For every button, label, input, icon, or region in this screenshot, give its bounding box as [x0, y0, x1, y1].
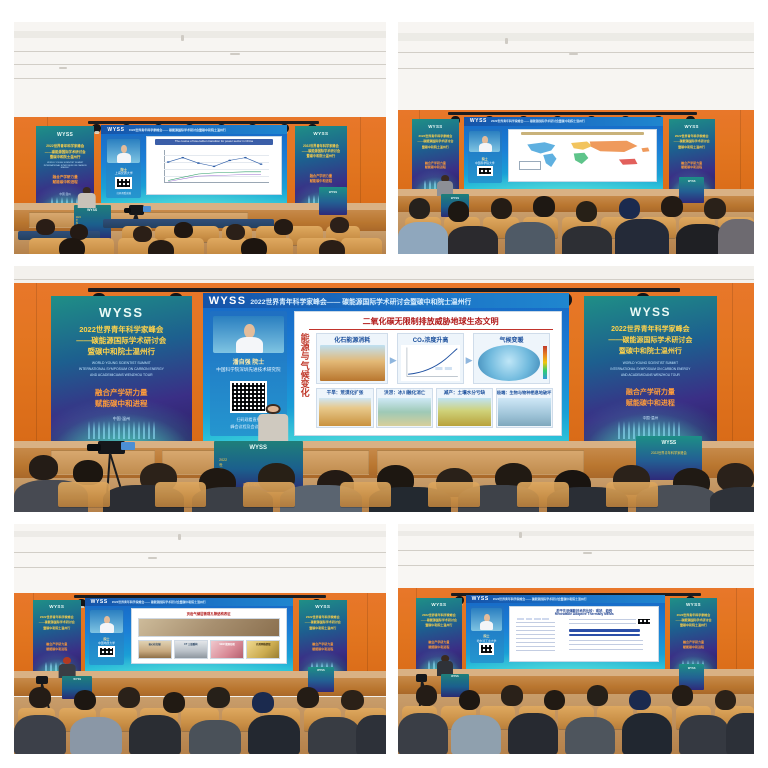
audience-shoulders	[562, 226, 612, 254]
ceiling-line	[398, 565, 754, 566]
auditorium-scene: WYSS 2022世界青年科学家峰会 ——碳能源国际学术研讨会 暨碳中和院士温州…	[398, 22, 754, 254]
banner-slogan-2: 赋能碳中和进程	[418, 645, 461, 649]
banner-slogan-2: 赋能碳中和进程	[301, 647, 346, 651]
banner-title-cn: 2022世界青年科学家峰会	[301, 615, 346, 619]
highlight-bar	[569, 629, 640, 632]
speaker-shoulders	[236, 337, 263, 353]
banner-title-cn: 2022世界青年科学家峰会	[670, 134, 713, 138]
main-led-screen: WYSS 2022世界青年科学家峰会—— 碳能源国际学术研讨会暨碳中和院士温州行…	[464, 117, 663, 189]
banner-subtitle-cn: ——碳能源国际学术研讨会	[57, 335, 186, 346]
presentation-slide: The course of low-carbon transition for …	[146, 136, 282, 194]
core-photo: 岩心柱扫描	[138, 640, 172, 659]
banner-subtitle-cn: ——碳能源国际学术研讨会	[672, 618, 715, 622]
speaker-name: 潘自强 院士	[212, 357, 286, 366]
presentation-slide: 二氧化碳无限制排放威胁地球生态文明 能源与气候变化 化石能源消耗 ▶ CO₂浓度…	[294, 311, 561, 436]
lighting-truss	[88, 288, 680, 292]
audience-head	[118, 687, 140, 708]
ceiling	[14, 22, 386, 124]
audience-head	[629, 690, 650, 711]
wall-seam	[36, 283, 37, 440]
qr-code[interactable]	[479, 643, 495, 654]
ceiling-vent	[59, 67, 67, 69]
skyline-graphic	[88, 421, 156, 439]
audience-head	[174, 222, 193, 238]
led-header-title: 2022世界青年科学家峰会—— 碳能源国际学术研讨会暨碳中和院士温州行	[250, 296, 471, 306]
block-caption: 化石能源消耗	[317, 335, 387, 344]
banner-subtitle-cn: ——碳能源国际学术研讨会	[670, 139, 713, 143]
speaker-shoulders	[100, 623, 114, 632]
pore-network: 孔隙网络提取	[246, 640, 280, 659]
banner-subtitle2-cn: 暨碳中和院士温州行	[414, 145, 457, 149]
ceiling-band	[398, 531, 754, 537]
kiosk-brand: WYSS	[636, 440, 703, 446]
slide-photo-extreme: 极端：生物与物种栖息地破坏	[496, 388, 553, 428]
panel-center: WYSS 2022世界青年科学家峰会 ——碳能源国际学术研讨会 暨碳中和院士温州…	[14, 266, 754, 512]
table-rule	[516, 626, 554, 627]
wall-seam	[732, 283, 733, 440]
strip-caption: 孔隙网络提取	[247, 642, 279, 646]
banner-subtitle2-cn: 暨碳中和院士温州行	[57, 346, 186, 357]
audience-head	[501, 685, 522, 706]
audience-head	[29, 455, 59, 480]
ceiling-vent	[230, 53, 240, 55]
panel-top-left: WYSS 2022世界青年科学家峰会 ——碳能源国际学术研讨会 暨碳中和院士温州…	[14, 22, 386, 254]
banner-title-en: WORLD YOUNG SCIENTIST SUMMIT	[592, 361, 709, 365]
slide-title: 页岩气储层微观孔隙结构表征	[138, 611, 280, 616]
qr-pattern	[638, 619, 650, 624]
led-header: WYSS 2022世界青年科学家峰会—— 碳能源国际学术研讨会暨碳中和院士温州行	[464, 117, 663, 126]
wyss-logo: WYSS	[91, 599, 108, 605]
right-banner: WYSS 2022世界青年科学家峰会 ——碳能源国际学术研讨会 暨碳中和院士温州…	[670, 598, 716, 674]
ceiling-vent	[505, 38, 508, 44]
banner-slogan-2: 赋能碳中和进程	[39, 180, 92, 185]
panel-bottom-right: WYSS 2022世界青年科学家峰会 ——碳能源国际学术研讨会 暨碳中和院士温州…	[398, 524, 754, 754]
wyss-logo: WYSS	[670, 602, 716, 607]
audience-head	[226, 224, 245, 240]
main-led-screen: WYSS 2022世界青年科学家峰会—— 碳能源国际学术研讨会暨碳中和院士温州行…	[101, 125, 287, 204]
audience-head	[252, 692, 274, 713]
speaker-shoulders	[479, 143, 492, 152]
ceiling	[398, 524, 754, 593]
core-scan-strip	[138, 618, 280, 637]
audience-head	[207, 687, 229, 708]
speaker-name: 院士	[90, 637, 124, 641]
ceiling	[14, 524, 386, 598]
table-rule	[516, 634, 554, 635]
table-rule	[516, 642, 554, 643]
temperature-scale	[543, 346, 547, 380]
led-header: WYSS 2022世界青年科学家峰会—— 碳能源国际学术研讨会暨碳中和院士温州行	[101, 125, 287, 134]
seat	[606, 482, 658, 507]
audience-head	[319, 240, 345, 254]
seat	[517, 482, 569, 507]
audience-shoulders	[398, 713, 448, 754]
speaker-photo	[213, 316, 284, 353]
audience-head	[587, 685, 608, 706]
wyss-logo: WYSS	[669, 124, 715, 129]
photo-caption: 极端：生物与物种栖息地破坏	[497, 390, 552, 396]
camera-monitor	[121, 442, 136, 450]
audience-head	[544, 690, 565, 711]
audience-head	[448, 201, 469, 222]
speaker-org: 中国科学院大学	[469, 161, 502, 165]
table-cell	[534, 618, 541, 620]
seat	[428, 482, 480, 507]
speaker-card: 院士 上海交通大学 扫码观看直播	[106, 136, 141, 198]
arrow-icon: ▶	[390, 355, 397, 366]
audience-head	[274, 219, 293, 235]
banner-title-cn: 2022世界青年科学家峰会	[35, 615, 80, 619]
ceiling-band	[14, 531, 386, 537]
audience-head	[715, 690, 736, 711]
audience-head	[73, 460, 103, 485]
arrow-icon: ▶	[466, 355, 473, 366]
wyss-logo: WYSS	[51, 305, 192, 320]
kiosk-brand: WYSS	[319, 190, 347, 194]
co2-curve-svg	[401, 345, 460, 382]
dune-photo	[319, 398, 372, 426]
qr-code[interactable]	[477, 166, 493, 176]
wyss-logo: WYSS	[412, 124, 458, 129]
ceiling-vent	[181, 35, 184, 41]
ceiling-vent	[519, 532, 522, 538]
auditorium-scene: WYSS 2022世界青年科学家峰会 ——碳能源国际学术研讨会 暨碳中和院士温州…	[14, 524, 386, 754]
wheat-field-photo	[438, 398, 491, 426]
podium-title: 2022世界青年科学家峰会	[76, 217, 78, 219]
slide-block-fossil: 化石能源消耗	[316, 333, 388, 384]
camera-lens	[124, 208, 131, 213]
bullet-rule	[569, 649, 643, 650]
strip-caption: CT 三维重构	[175, 642, 207, 646]
audience-head	[459, 690, 480, 711]
table-rule	[516, 650, 554, 651]
banner-slogan-1: 融合产学研力量	[57, 387, 186, 398]
bullet-rule	[569, 640, 643, 641]
audience-shoulders	[129, 715, 181, 754]
sem-image: SEM 微观形貌	[210, 640, 244, 659]
banner-slogan-1: 融合产学研力量	[418, 640, 461, 644]
audience-head	[672, 685, 693, 706]
podium-brand: WYSS	[441, 675, 469, 678]
ceiling-vent	[583, 552, 592, 554]
audience-head	[148, 240, 174, 254]
slide-title: 二氧化碳无限制排放威胁地球生态文明	[311, 316, 550, 327]
slide-qr-code[interactable]	[636, 617, 652, 626]
ceiling-line	[398, 68, 754, 69]
wyss-logo: WYSS	[470, 118, 487, 124]
banner-subtitle2-cn: 暨碳中和院士温州行	[35, 626, 80, 630]
audience-shoulders	[189, 720, 241, 755]
block-caption: CO₂浓度升高	[398, 335, 462, 344]
table-rule	[516, 622, 554, 623]
wyss-logo: WYSS	[33, 604, 81, 609]
qr-caption: 扫码观看直播	[106, 191, 141, 195]
audience-head	[29, 687, 51, 708]
audience-shoulders	[718, 219, 754, 254]
slide-title-en: Renewable Adaptive Thermally MEMs	[516, 612, 652, 616]
audience-head	[133, 226, 152, 242]
speaker-photo	[107, 139, 140, 164]
banner-subtitle2-cn: 暨碳中和院士温州行	[39, 154, 92, 159]
right-banner: WYSS 2022世界青年科学家峰会 ——碳能源国际学术研讨会 暨碳中和院士温州…	[299, 600, 347, 676]
wetland-photo	[378, 398, 431, 426]
speaker-org: 上海交通大学	[107, 171, 141, 175]
table-rule	[516, 638, 554, 639]
map-slide-title	[521, 132, 645, 136]
table-cell	[517, 618, 524, 620]
audience-head	[533, 196, 554, 217]
banner-subtitle2-cn: 暨碳中和院士温州行	[301, 626, 346, 630]
ceiling-line	[14, 51, 386, 52]
ceiling-line	[14, 279, 754, 280]
panel-bottom-left: WYSS 2022世界青年科学家峰会 ——碳能源国际学术研讨会 暨碳中和院士温州…	[14, 524, 386, 754]
data-table	[516, 617, 554, 657]
banner-title-cn: 2022世界青年科学家峰会	[414, 134, 457, 138]
wyss-logo: WYSS	[36, 132, 94, 138]
presenter-body	[77, 193, 96, 208]
audience-head	[241, 238, 267, 254]
chart-x-axis	[164, 182, 268, 183]
presenter	[258, 404, 288, 443]
speaker-photo	[471, 608, 502, 631]
banner-title-en3: AND ACADEMICIANS WENZHOU TOUR	[592, 373, 709, 377]
audience-head	[416, 685, 437, 706]
photo-caption: 减产：土壤水分亏缺	[437, 390, 492, 396]
kiosk-brand: WYSS	[308, 669, 334, 672]
audience-head	[491, 198, 512, 219]
audience-shoulders	[710, 487, 754, 512]
banner-subtitle2-cn: 暨碳中和院士温州行	[670, 145, 713, 149]
speaker-name: 院士	[470, 634, 503, 638]
banner-subtitle-cn: ——碳能源国际学术研讨会	[589, 335, 712, 345]
led-header-title: 2022世界青年科学家峰会—— 碳能源国际学术研讨会暨碳中和院士温州行	[112, 600, 206, 604]
audience-shoulders	[14, 715, 66, 754]
audience-shoulders	[622, 713, 672, 754]
photo-collage: WYSS 2022世界青年科学家峰会 ——碳能源国际学术研讨会 暨碳中和院士温州…	[0, 0, 768, 768]
qr-pattern	[100, 648, 112, 655]
banner-slogan-2: 赋能碳中和进程	[672, 645, 715, 649]
stage-kiosk: WYSS	[679, 177, 704, 203]
banner-slogan-1: 融合产学研力量	[301, 642, 346, 646]
slide-vertical-label: 能源与气候变化	[299, 334, 311, 398]
presentation-slide: 页岩气储层微观孔隙结构表征 岩心柱扫描 CT 三维重构 SEM 微观形貌 孔隙网…	[131, 608, 287, 664]
camera-lens	[87, 444, 100, 452]
led-header-title: 2022世界青年科学家峰会—— 碳能源国际学术研讨会暨碳中和院士温州行	[129, 128, 227, 132]
audience-shoulders	[451, 715, 501, 754]
speaker-card: 院士 中国地质大学	[89, 608, 124, 665]
qr-code[interactable]	[98, 646, 114, 657]
presenter	[59, 657, 76, 678]
podium-brand: WYSS	[74, 208, 111, 212]
banner-slogan-2: 赋能碳中和进程	[670, 165, 713, 169]
right-banner: WYSS 2022世界青年科学家峰会 ——碳能源国际学术研讨会 暨碳中和院士温州…	[584, 296, 717, 449]
ceiling-vent	[178, 534, 181, 540]
banner-subtitle2-cn: 暨碳中和院士温州行	[418, 623, 461, 627]
qr-pattern	[479, 168, 491, 174]
stage-kiosk: WYSS	[319, 187, 347, 215]
audience-shoulders	[308, 717, 360, 754]
qr-code[interactable]	[115, 177, 132, 189]
banner-slogan-2: 赋能碳中和进程	[414, 165, 457, 169]
wyss-logo: WYSS	[209, 295, 247, 307]
speaker-org: 中国地质大学	[90, 641, 124, 645]
banner-title-en2: INTERNATIONAL SYMPOSIUM ON CARBON ENERGY	[40, 165, 91, 169]
oilfield-photo	[320, 345, 385, 382]
ceiling-vent	[569, 53, 578, 55]
audience-head	[74, 690, 96, 711]
wyss-logo: WYSS	[299, 604, 347, 609]
ceiling-line	[398, 550, 754, 551]
audience-head	[661, 196, 682, 217]
banner-slogan-2: 赋能碳中和进程	[57, 398, 186, 409]
seat	[243, 482, 295, 507]
speaker-shoulders	[480, 621, 493, 630]
audience-shoulders	[248, 715, 300, 754]
presenter	[77, 187, 96, 208]
audience-shoulders	[726, 713, 754, 754]
auditorium-scene: WYSS 2022世界青年科学家峰会 ——碳能源国际学术研讨会 暨碳中和院士温州…	[398, 524, 754, 754]
left-banner: WYSS 2022世界青年科学家峰会 ——碳能源国际学术研讨会 暨碳中和院士温州…	[51, 296, 192, 449]
wyss-logo: WYSS	[472, 596, 489, 602]
presentation-slide: 若干先进储能技术的比较：现状、趋势 Renewable Adaptive The…	[509, 606, 659, 662]
audience-head	[341, 690, 363, 711]
strip-caption: 岩心柱扫描	[139, 642, 171, 646]
main-led-screen: WYSS 2022世界青年科学家峰会—— 碳能源国际学术研讨会暨碳中和院士温州行…	[85, 598, 293, 672]
led-header: WYSS 2022世界青年科学家峰会—— 碳能源国际学术研讨会暨碳中和院士温州行	[466, 595, 665, 603]
strip-caption: SEM 微观形貌	[211, 642, 243, 646]
speaker-shoulders	[117, 153, 131, 163]
led-header-title: 2022世界青年科学家峰会—— 碳能源国际学术研讨会暨碳中和院士温州行	[493, 597, 587, 601]
podium-brand: WYSS	[62, 678, 92, 681]
presenter-face	[268, 406, 279, 412]
podium-brand: WYSS	[441, 196, 469, 200]
audience-shoulders	[505, 222, 555, 254]
chart-title: The course of low-carbon transition for …	[155, 139, 273, 145]
presenter-body	[258, 414, 288, 445]
ceiling-line	[14, 78, 386, 79]
bullet-rule	[569, 644, 643, 645]
chart-series-upper	[164, 150, 268, 183]
banner-title-cn: 2022世界青年科学家峰会	[589, 324, 712, 334]
audience-shoulders	[508, 713, 558, 754]
audience-head	[163, 692, 185, 713]
audience-head	[297, 687, 319, 708]
audience-head	[409, 198, 430, 219]
banner-slogan-2: 赋能碳中和进程	[297, 178, 345, 183]
banner-subtitle-cn: ——碳能源国际学术研讨会	[418, 618, 461, 622]
speaker-org: 哈尔滨工业大学	[470, 639, 503, 643]
presentation-slide	[508, 129, 658, 182]
audience-shoulders	[448, 226, 498, 254]
globe-temperature-map	[478, 345, 540, 381]
audience-head	[59, 238, 85, 254]
ceiling-vent	[148, 557, 157, 559]
audience-shoulders	[70, 717, 122, 754]
kiosk-brand: WYSS	[679, 180, 704, 183]
auditorium-scene: WYSS 2022世界青年科学家峰会 ——碳能源国际学术研讨会 暨碳中和院士温州…	[14, 22, 386, 254]
panel-top-right: WYSS 2022世界青年科学家峰会 ——碳能源国际学术研讨会 暨碳中和院士温州…	[398, 22, 754, 254]
banner-subtitle2-cn: 暨碳中和院士温州行	[297, 153, 345, 158]
audience-head	[619, 198, 640, 219]
audience-head	[36, 219, 55, 235]
main-led-screen: WYSS 2022世界青年科学家峰会—— 碳能源国际学术研讨会暨碳中和院士温州行…	[466, 595, 665, 669]
co2-curve-chart	[401, 345, 460, 382]
ceiling-band	[14, 31, 386, 38]
banner-slogan-2: 赋能碳中和进程	[35, 647, 80, 651]
qr-pattern	[117, 179, 130, 187]
speaker-photo	[90, 610, 123, 633]
ceiling	[398, 22, 754, 115]
banner-title-en3: AND ACADEMICIANS WENZHOU TOUR	[59, 373, 183, 377]
banner-title-en2: INTERNATIONAL SYMPOSIUM ON CARBON ENERGY	[59, 367, 183, 371]
banner-subtitle2-cn: 暨碳中和院士温州行	[589, 346, 712, 356]
birds-photo	[498, 398, 551, 426]
speaker-org: 中国科学院深圳先进技术研究院	[212, 367, 286, 373]
speaker-photo	[469, 131, 500, 153]
table-rule	[516, 646, 554, 647]
podium-brand: WYSS	[214, 445, 303, 451]
banner-slogan-2: 赋能碳中和进程	[589, 398, 712, 408]
audience-shoulders	[356, 715, 386, 754]
wyss-logo: WYSS	[295, 131, 347, 136]
banner-subtitle2-cn: 暨碳中和院士温州行	[672, 623, 715, 627]
banner-slogan-1: 融合产学研力量	[35, 642, 80, 646]
slide-photo-yield: 减产：土壤水分亏缺	[436, 388, 493, 428]
banner-subtitle-cn: ——碳能源国际学术研讨会	[414, 139, 457, 143]
banner-title-en2: INTERNATIONAL SYMPOSIUM ON CARBON ENERGY	[592, 367, 709, 371]
speaker-card: 院士 哈尔滨工业大学	[470, 606, 504, 663]
slide-block-co2: CO₂浓度升高	[397, 333, 463, 384]
seat	[340, 482, 392, 507]
table-cell	[542, 618, 549, 620]
camera-monitor	[143, 206, 151, 212]
ct-reconstruction: CT 三维重构	[174, 640, 208, 659]
speaker-card: 院士 中国科学院大学	[468, 129, 502, 183]
ceiling-line	[14, 552, 386, 553]
seat	[155, 482, 207, 507]
bullet-rule	[569, 619, 643, 620]
led-header-title: 2022世界青年科学家峰会—— 碳能源国际学术研讨会暨碳中和院士温州行	[491, 119, 585, 123]
podium-title: 2022世界青年科学家峰会	[219, 458, 221, 460]
slide-photo-drought: 干旱：荒漠化扩张	[316, 388, 373, 428]
auditorium-scene: WYSS 2022世界青年科学家峰会 ——碳能源国际学术研讨会 暨碳中和院士温州…	[14, 266, 754, 512]
wyss-logo: WYSS	[584, 305, 717, 319]
slide-title-rule	[309, 329, 553, 330]
wyss-logo: WYSS	[416, 602, 462, 607]
slide-photo-flood: 洪涝：冰川融化消亡	[376, 388, 433, 428]
banner-title-en: WORLD YOUNG SCIENTIST SUMMIT	[59, 361, 183, 365]
photo-caption: 干旱：荒漠化扩张	[317, 390, 372, 396]
table-rule	[516, 630, 554, 631]
banner-slogan-1: 融合产学研力量	[672, 640, 715, 644]
audience-head	[576, 201, 597, 222]
presenter	[437, 175, 453, 196]
audience-shoulders	[679, 715, 729, 754]
banner-title-cn: 2022世界青年科学家峰会	[57, 324, 186, 335]
banner-subtitle-cn: ——碳能源国际学术研讨会	[35, 620, 80, 624]
kiosk-brand: WYSS	[679, 667, 704, 670]
ceiling-band	[398, 33, 754, 40]
highlight-bar	[569, 634, 640, 637]
kiosk-title: 2022世界青年科学家峰会	[640, 451, 699, 455]
banner-slogan-1: 融合产学研力量	[589, 387, 712, 397]
audience-shoulders	[565, 717, 615, 754]
seat	[341, 238, 382, 254]
wyss-logo: WYSS	[107, 127, 124, 133]
audience-shoulders	[615, 219, 668, 254]
audience-head	[704, 198, 725, 219]
led-header: WYSS 2022世界青年科学家峰会—— 碳能源国际学术研讨会暨碳中和院士温州行	[85, 598, 293, 606]
